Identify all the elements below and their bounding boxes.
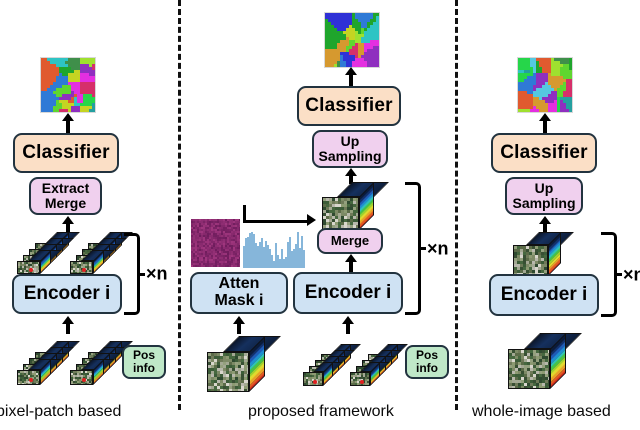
feature-patch-stack-left-b (70, 232, 122, 274)
classifier-label-right: Classifier (500, 143, 588, 163)
info-label-middle: info (416, 361, 438, 375)
input-image-cube-right (508, 333, 566, 389)
classification-map-right (517, 57, 573, 113)
spectral-signature-plot (243, 232, 305, 268)
pos-info-box-left[interactable]: Pos info (122, 345, 166, 379)
sampling-label-middle: Sampling (318, 148, 381, 164)
encoder-label-middle: Encoder i (305, 283, 392, 303)
arrow-atten-input (232, 316, 246, 334)
sampling-label-right: Sampling (512, 195, 575, 211)
up-sampling-box-right[interactable]: Up Sampling (505, 177, 583, 215)
atten-mask-box[interactable]: Atten Mask i (190, 272, 288, 314)
feature-patch-stack-left-a (17, 232, 69, 274)
arrow-map-right (538, 113, 552, 133)
figure-canvas: Classifier Extract Merge Encoder i ×n Po… (0, 0, 640, 430)
arrow-merge-middle (344, 254, 358, 272)
attention-heatmap-image (191, 219, 240, 267)
pos-info-box-middle[interactable]: Pos info (405, 345, 449, 379)
up-label-right: Up (535, 180, 554, 196)
merged-feature-cube (322, 182, 374, 230)
repeat-label-left: ×n (146, 264, 168, 285)
merge-label-middle: Merge (331, 234, 369, 248)
classification-map-middle (324, 12, 380, 68)
info-label-left: info (133, 361, 155, 375)
caption-right: whole-image based (472, 403, 611, 421)
encoder-box-right[interactable]: Encoder i (489, 274, 599, 316)
merge-word-label: Merge (45, 195, 86, 211)
attention-to-merge-connector (243, 205, 318, 223)
repeat-bracket-right: ×n (601, 232, 640, 317)
arrow-extract-left (61, 216, 75, 233)
atten-label: Atten (219, 275, 260, 292)
input-patch-stack-left-b (70, 341, 122, 385)
extract-merge-box-left[interactable]: Extract Merge (29, 177, 102, 215)
classifier-box-left[interactable]: Classifier (13, 133, 119, 173)
merge-box-middle[interactable]: Merge (317, 228, 383, 254)
encoder-label-left: Encoder i (24, 284, 111, 304)
up-sampling-box-middle[interactable]: Up Sampling (312, 130, 388, 168)
input-patch-stack-left-a (17, 341, 69, 385)
input-patch-stack-middle-a (303, 344, 351, 386)
panel-divider-left (178, 0, 181, 410)
arrow-encoder-left (61, 316, 75, 334)
classification-map-left (40, 57, 96, 113)
caption-middle: proposed framework (248, 403, 394, 421)
repeat-label-right: ×n (623, 264, 640, 285)
input-patch-stack-middle-b (350, 344, 398, 386)
encoder-label-right: Encoder i (501, 285, 588, 305)
classifier-label-middle: Classifier (305, 96, 393, 116)
arrow-upsample-right (538, 216, 552, 233)
encoder-box-left[interactable]: Encoder i (12, 274, 122, 314)
classifier-label-left: Classifier (22, 143, 110, 163)
input-image-cube-middle (207, 336, 265, 392)
up-label-middle: Up (341, 133, 360, 149)
classifier-box-right[interactable]: Classifier (491, 133, 597, 173)
feature-cube-right (513, 232, 561, 276)
arrow-map-middle (344, 67, 358, 86)
arrow-map-left (61, 113, 75, 133)
extract-label: Extract (42, 180, 89, 196)
arrow-encoder-input-middle (341, 316, 355, 334)
repeat-label-middle: ×n (427, 238, 449, 259)
classifier-box-middle[interactable]: Classifier (297, 86, 401, 126)
caption-left: pixel-patch based (0, 403, 121, 421)
encoder-box-middle[interactable]: Encoder i (293, 272, 403, 314)
repeat-bracket-left: ×n (124, 233, 180, 315)
repeat-bracket-middle: ×n (405, 182, 461, 315)
mask-label: Mask i (215, 292, 264, 309)
